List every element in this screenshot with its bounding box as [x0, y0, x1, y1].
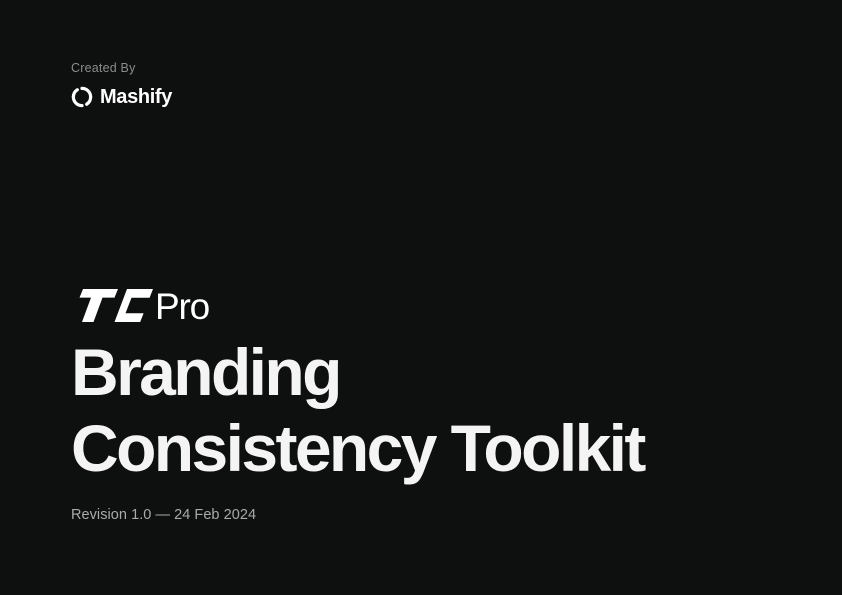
split-ring-icon [71, 86, 93, 108]
tc-logotype-icon [71, 289, 155, 322]
headline-line-1: Branding [71, 334, 802, 410]
headline-line-2: Consistency Toolkit [71, 410, 802, 486]
title-block: Pro Branding Consistency Toolkit Revisio… [71, 286, 802, 523]
product-lockup: Pro [71, 286, 802, 326]
product-suffix: Pro [155, 288, 209, 325]
mashify-lockup: Mashify [71, 86, 172, 108]
page-title: Branding Consistency Toolkit [71, 334, 802, 486]
created-by-label: Created By [71, 62, 172, 75]
cover-slide: Created By Mashify [0, 0, 842, 595]
revision-label: Revision 1.0 — 24 Feb 2024 [71, 508, 802, 523]
mashify-wordmark: Mashify [100, 87, 172, 107]
created-by-block: Created By Mashify [71, 62, 172, 108]
